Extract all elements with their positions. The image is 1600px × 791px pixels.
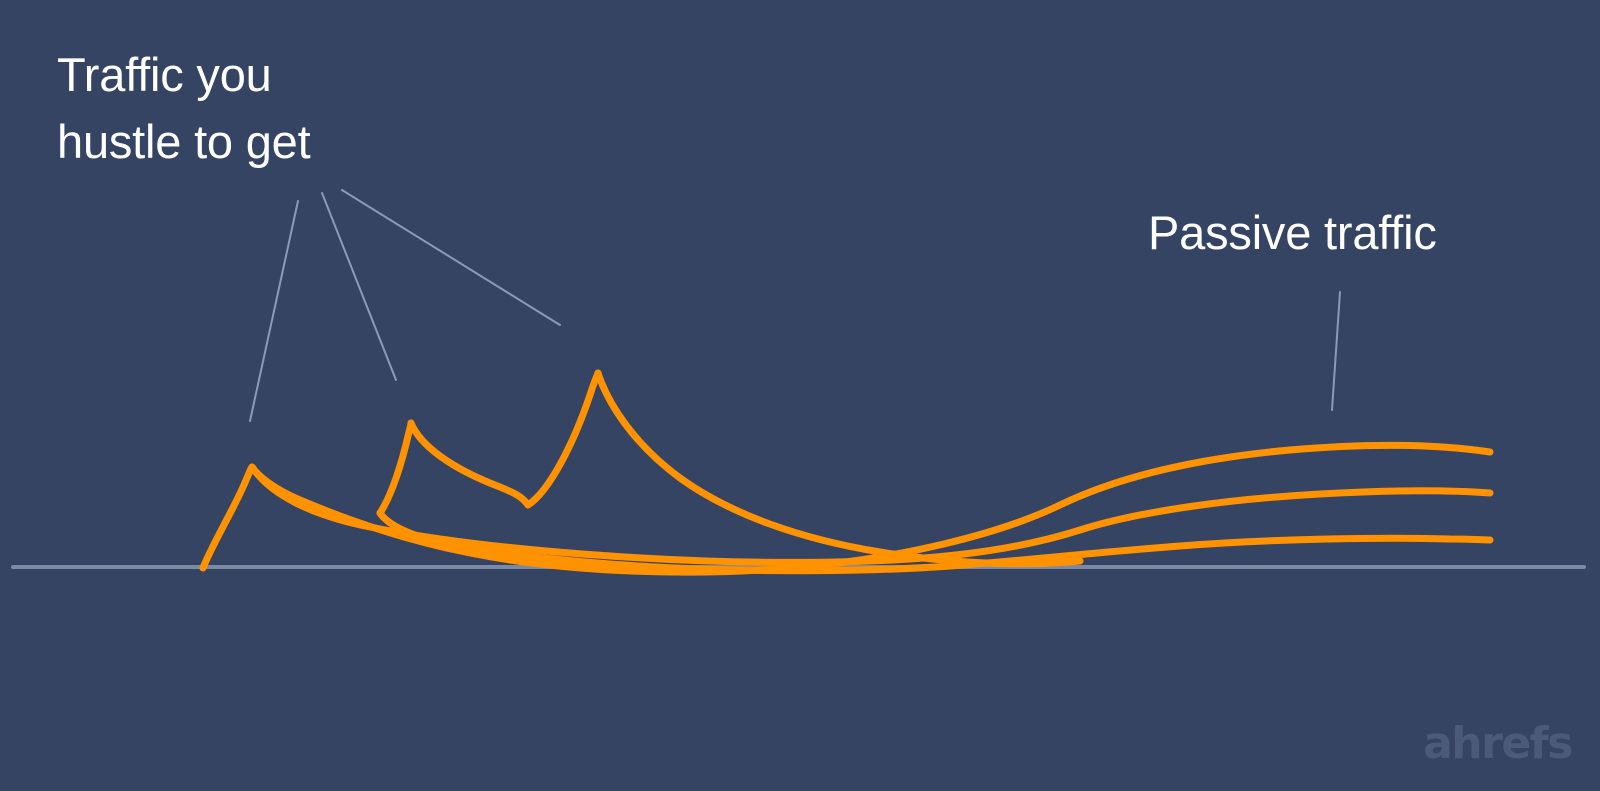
annotation-label-hustle-traffic: Traffic you hustle to get <box>57 42 310 175</box>
leader-hustle-left <box>250 201 298 421</box>
traffic-curve-spike-2-decay <box>411 423 528 505</box>
leader-hustle-middle <box>322 193 396 380</box>
annotation-label-passive-traffic: Passive traffic <box>1148 200 1437 267</box>
illustration-canvas: Traffic you hustle to get Passive traffi… <box>0 0 1600 791</box>
traffic-curve-spike-3-decay <box>598 373 1080 564</box>
traffic-curve-spiky-traffic-top <box>203 445 1490 572</box>
ahrefs-logo: ahrefs <box>1420 719 1572 769</box>
traffic-curves-group <box>203 373 1490 572</box>
traffic-curve-spike-2-rise <box>380 423 411 513</box>
leader-hustle-right <box>342 190 560 325</box>
traffic-curve-spike-3-rise <box>528 373 598 505</box>
leader-passive <box>1332 292 1340 410</box>
